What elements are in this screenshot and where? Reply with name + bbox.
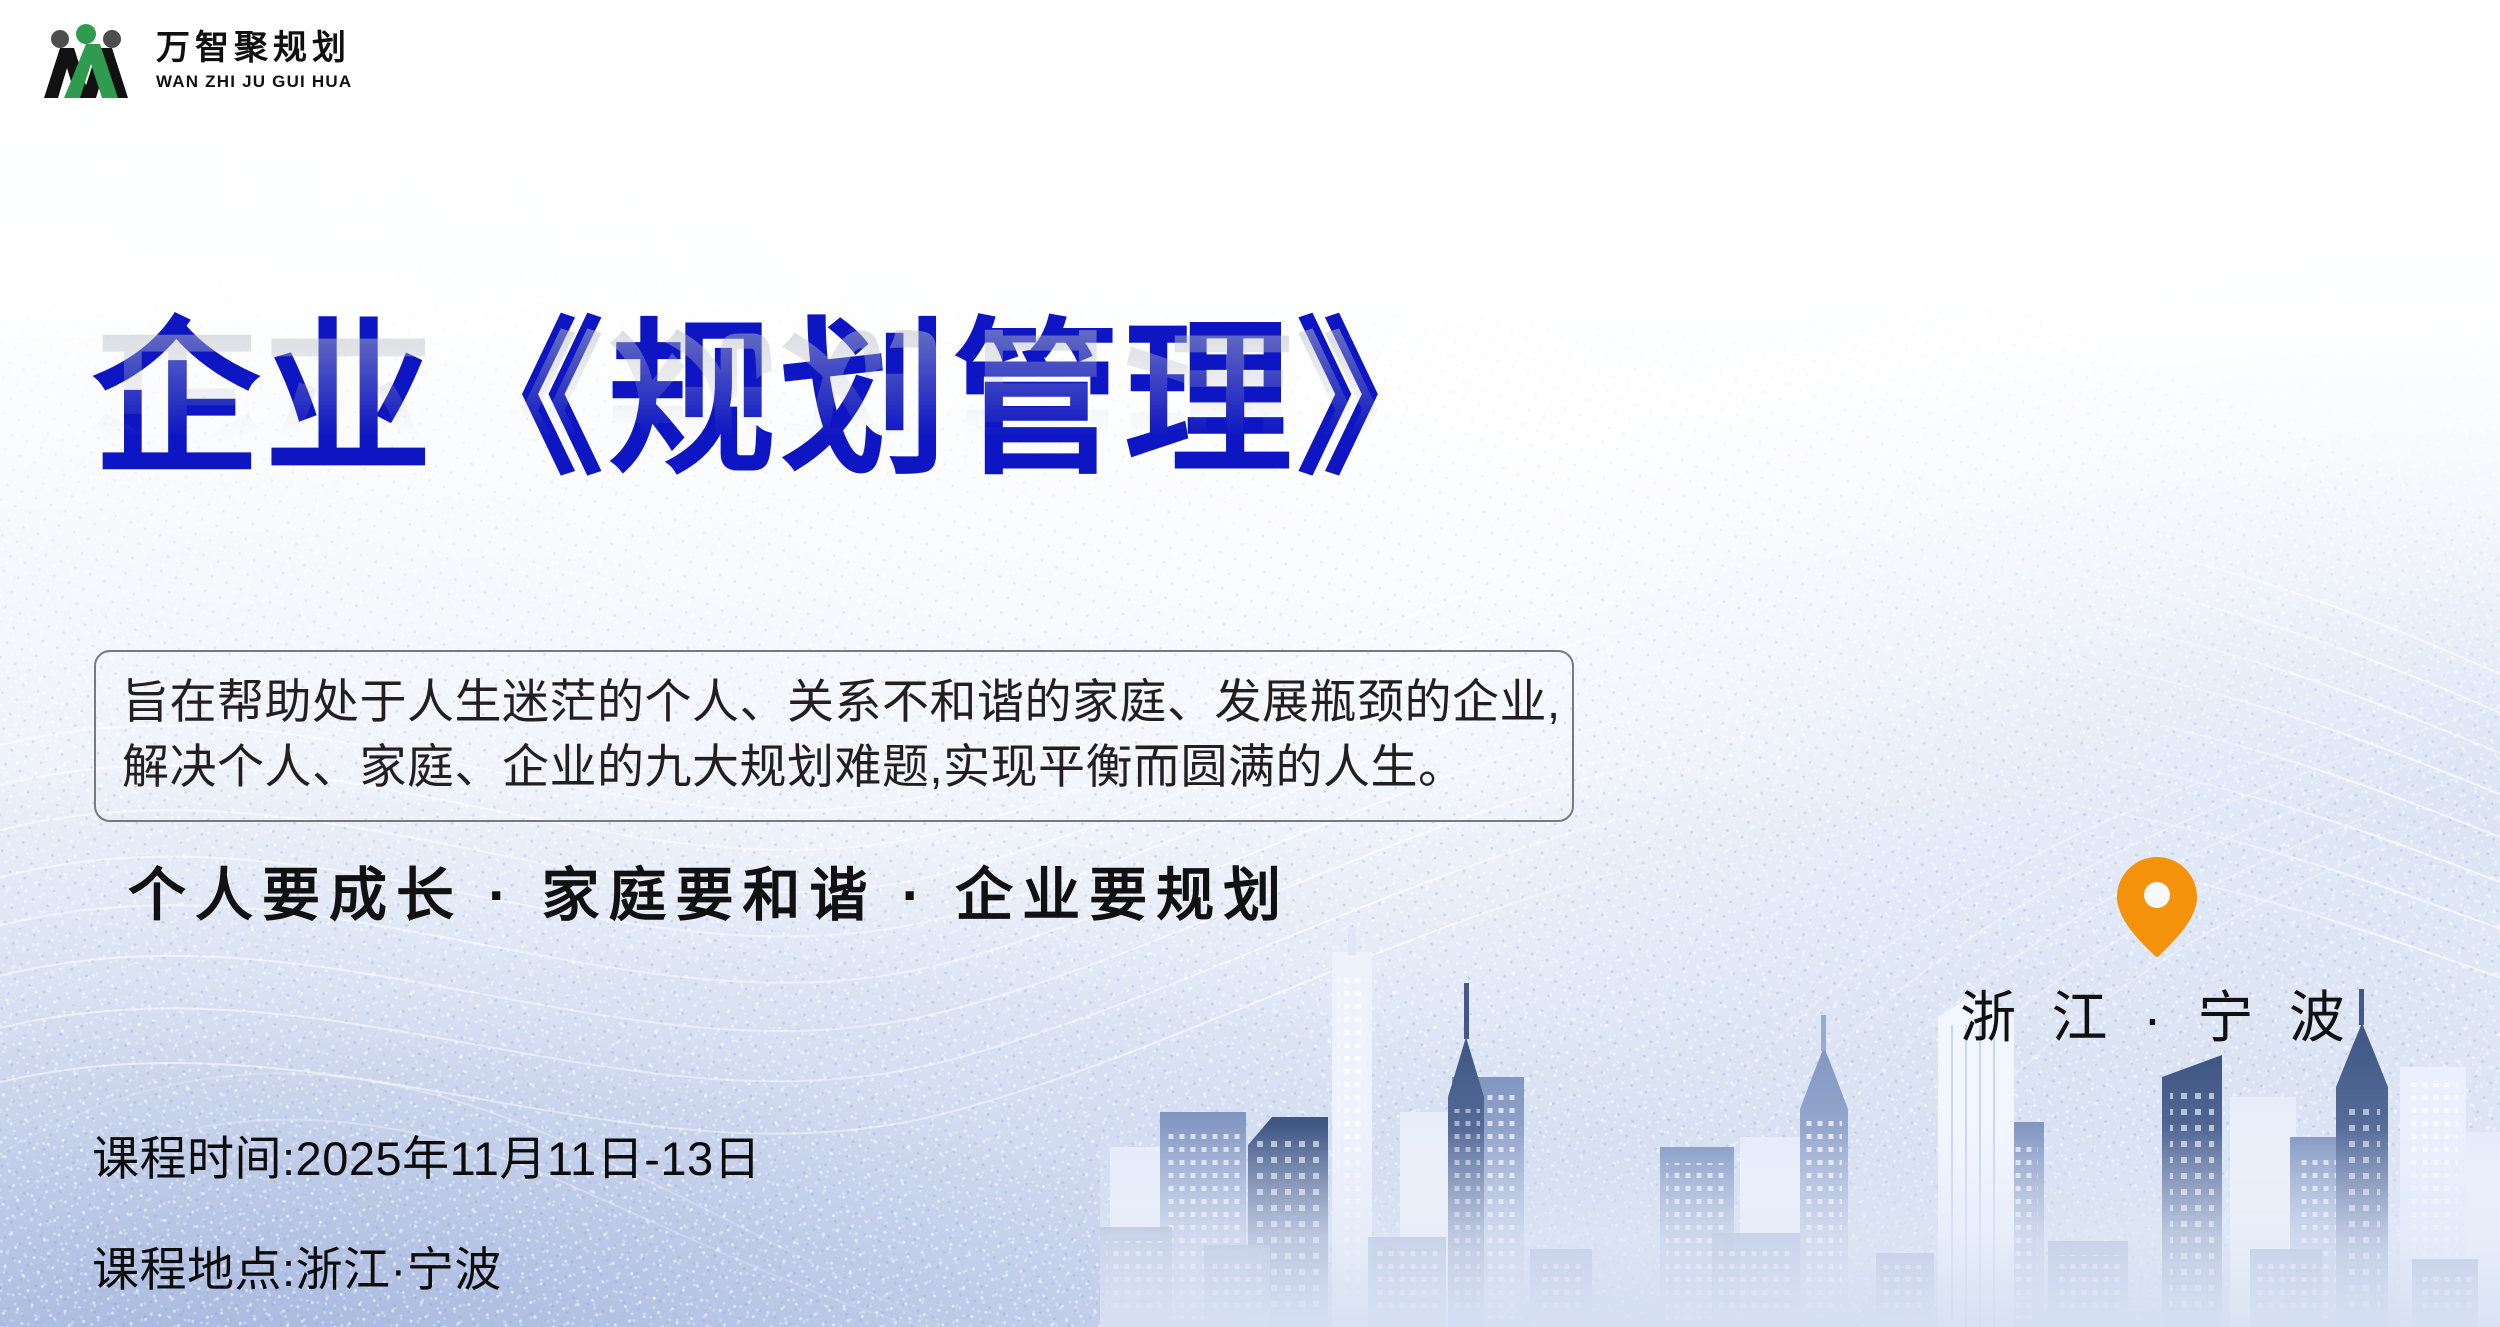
page-title: 企业《规划管理》 — [92, 316, 1592, 484]
course-info: 课程时间:2025年11月11日-13日 课程地点:浙江·宁波 — [92, 1120, 761, 1300]
brand-name-cn: 万智聚规划 — [156, 32, 352, 66]
brand-logo[interactable]: 万智聚规划 WAN ZHI JU GUI HUA — [34, 22, 352, 100]
brand-name-en: WAN ZHI JU GUI HUA — [156, 73, 352, 90]
hero-title-block: 企业《规划管理》 企业《规划管理》 — [92, 316, 1592, 656]
poster-canvas: 万智聚规划 WAN ZHI JU GUI HUA 企业《规划管理》 企业《规划管… — [0, 0, 2500, 1327]
tagline: 个人要成长 · 家庭要和谐 · 企业要规划 — [128, 848, 1290, 932]
map-pin-icon — [2115, 855, 2199, 959]
location-badge: 浙 江 · 宁 波 — [1960, 855, 2355, 1054]
brand-logo-text: 万智聚规划 WAN ZHI JU GUI HUA — [156, 32, 352, 90]
description-line-1: 旨在帮助处于人生迷茫的个人、关系不和谐的家庭、发展瓶颈的企业, — [122, 670, 1546, 735]
description-line-2: 解决个人、家庭、企业的九大规划难题,实现平衡而圆满的人生。 — [122, 735, 1546, 800]
course-place: 课程地点:浙江·宁波 — [92, 1231, 761, 1300]
location-text: 浙 江 · 宁 波 — [1960, 973, 2355, 1054]
three-people-logo-icon — [34, 22, 138, 100]
course-time: 课程时间:2025年11月11日-13日 — [92, 1120, 761, 1189]
description-box: 旨在帮助处于人生迷茫的个人、关系不和谐的家庭、发展瓶颈的企业, 解决个人、家庭、… — [94, 650, 1574, 822]
